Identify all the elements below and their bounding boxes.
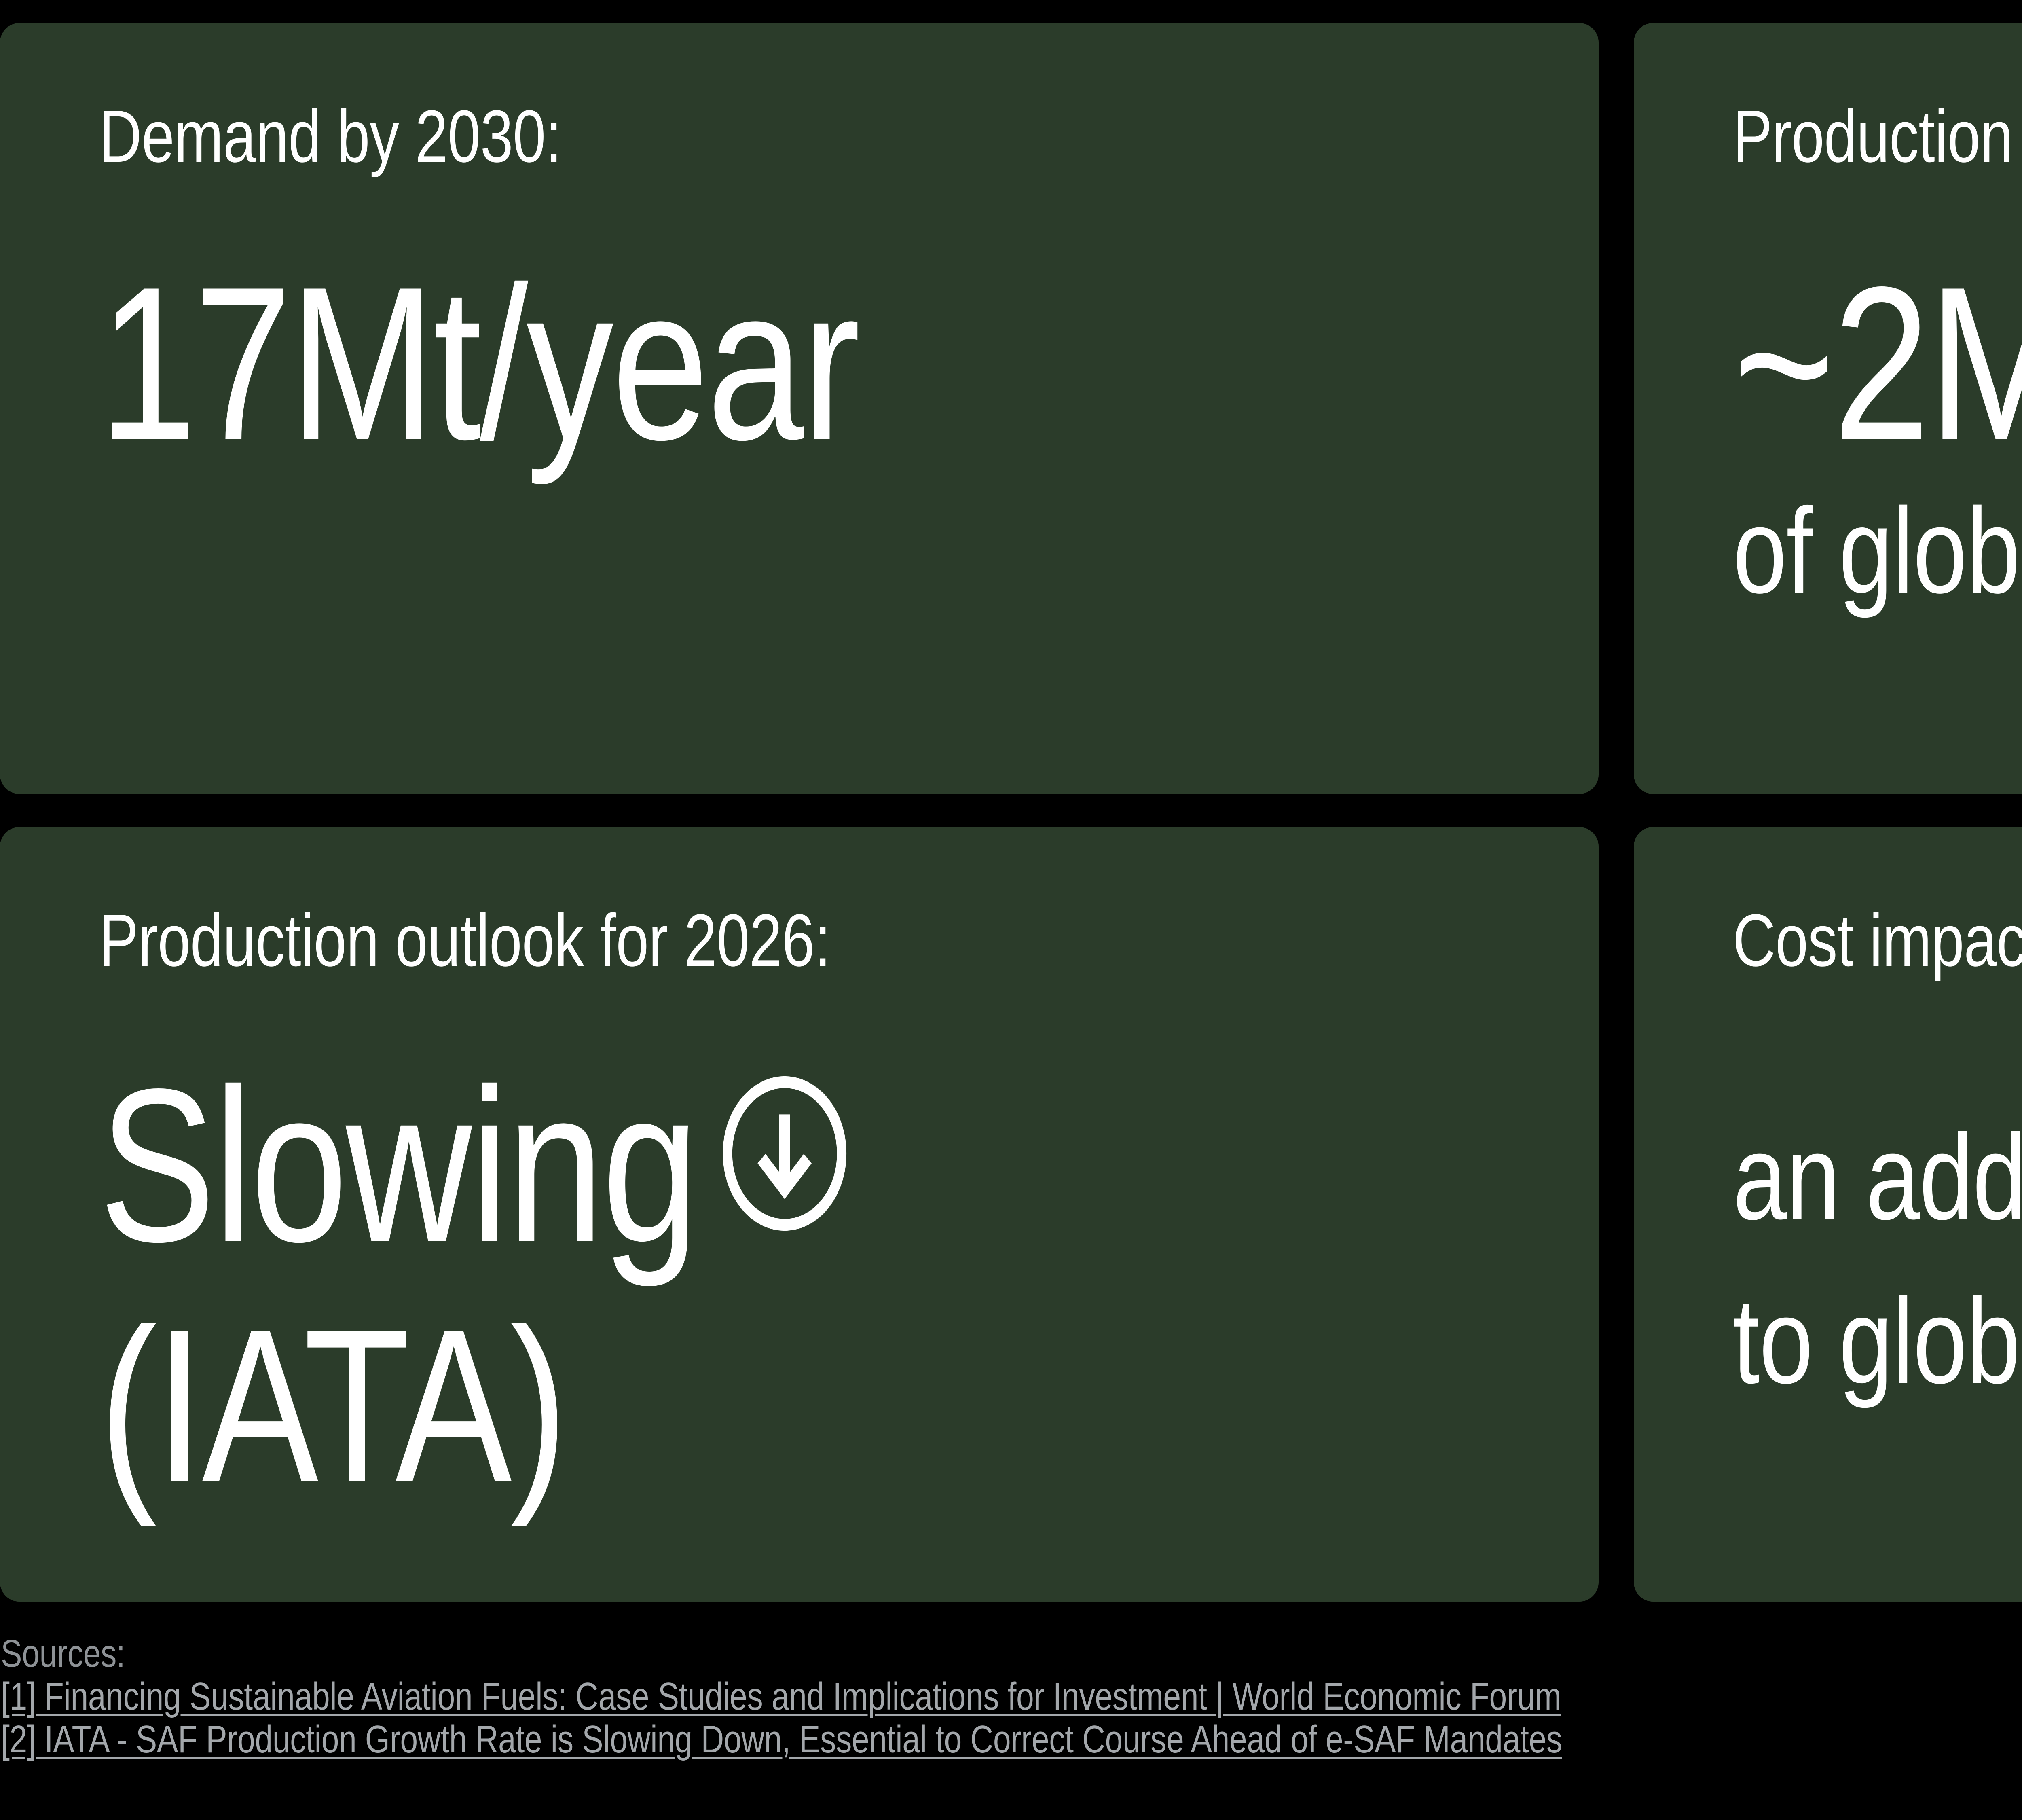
demand-value: 17Mt/year bbox=[99, 243, 859, 484]
cost-lead: an additional bbox=[1733, 1109, 2022, 1245]
card-headline-production: ~2Mt,only0.6% of global jet fuel bbox=[1733, 243, 2022, 617]
production-amount: ~2Mt, bbox=[1733, 241, 2022, 485]
outlook-attribution: (IATA) bbox=[99, 1286, 852, 1526]
card-label-cost: Cost impact today: bbox=[1733, 903, 2022, 977]
card-headline-outlook: Slowing (IATA) bbox=[99, 1045, 852, 1526]
card-label-production: Production in 2025: bbox=[1733, 99, 2022, 173]
cost-tail: to global fuel spend bbox=[1733, 1270, 2022, 1411]
card-content: Demand by 2030: 17Mt/year bbox=[99, 23, 1550, 794]
arrow-down-circle-icon bbox=[717, 1069, 852, 1238]
card-content: Cost impact today: an additional$3.6B to… bbox=[1733, 827, 2022, 1602]
card-content: Production outlook for 2026: Slowing (IA bbox=[99, 827, 1550, 1602]
card-headline-cost: an additional$3.6B to global fuel spend bbox=[1733, 1017, 2022, 1411]
stat-card-cost: Cost impact today: an additional$3.6B to… bbox=[1634, 827, 2022, 1602]
slide-board: Demand by 2030: 17Mt/year Production in … bbox=[0, 0, 2022, 1820]
production-tail: of global jet fuel bbox=[1733, 484, 2022, 617]
source-link-1[interactable]: [1] Financing Sustainable Aviation Fuels… bbox=[1, 1675, 1562, 1718]
cost-line-1: an additional$3.6B bbox=[1733, 1017, 2022, 1270]
stat-card-demand: Demand by 2030: 17Mt/year bbox=[0, 23, 1599, 794]
card-label-demand: Demand by 2030: bbox=[99, 99, 562, 173]
card-content: Production in 2025: ~2Mt,only0.6% of glo… bbox=[1733, 23, 2022, 794]
stat-card-outlook: Production outlook for 2026: Slowing (IA bbox=[0, 827, 1599, 1602]
source-link-2[interactable]: [2] IATA - SAF Production Growth Rate is… bbox=[1, 1718, 1562, 1761]
card-headline-demand: 17Mt/year bbox=[99, 243, 859, 484]
outlook-trend: Slowing bbox=[99, 1045, 697, 1286]
sources-title: Sources: bbox=[1, 1632, 1562, 1675]
outlook-trend-row: Slowing bbox=[99, 1045, 852, 1286]
production-line-1: ~2Mt,only0.6% bbox=[1733, 243, 2022, 484]
stat-card-production: Production in 2025: ~2Mt,only0.6% of glo… bbox=[1634, 23, 2022, 794]
stat-card-grid: Demand by 2030: 17Mt/year Production in … bbox=[0, 23, 2022, 1602]
sources-footer: Sources: [1] Financing Sustainable Aviat… bbox=[1, 1632, 1562, 1761]
card-label-outlook: Production outlook for 2026: bbox=[99, 903, 831, 977]
